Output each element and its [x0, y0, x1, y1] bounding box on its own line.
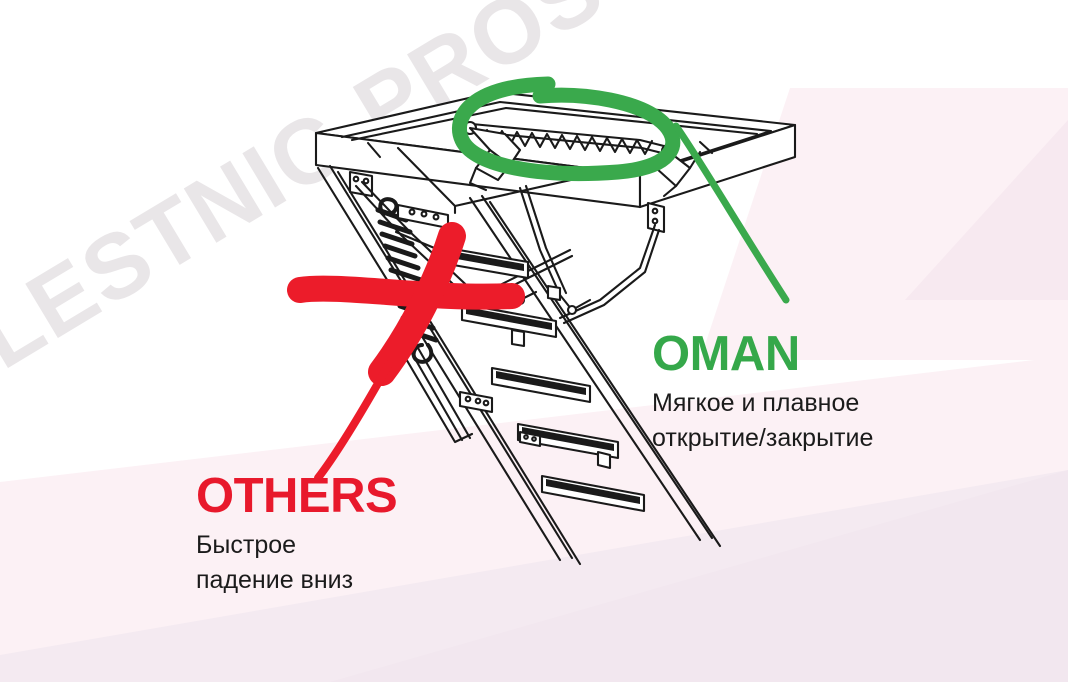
oman-title: OMAN [652, 330, 982, 380]
illustration-canvas: LESTNIC-PROSTO.RU [0, 0, 1068, 682]
oman-line-1: Мягкое и плавное [652, 386, 982, 422]
others-title: OTHERS [196, 472, 526, 522]
red-cross-mark [300, 236, 512, 478]
others-line-1: Быстрое [196, 528, 526, 564]
annotation-others: OTHERS Быстрое падение вниз [196, 472, 526, 599]
green-circle-mark [459, 84, 786, 300]
others-line-2: падение вниз [196, 563, 526, 599]
annotation-oman: OMAN Мягкое и плавное открытие/закрытие [652, 330, 982, 457]
oman-line-2: открытие/закрытие [652, 421, 982, 457]
